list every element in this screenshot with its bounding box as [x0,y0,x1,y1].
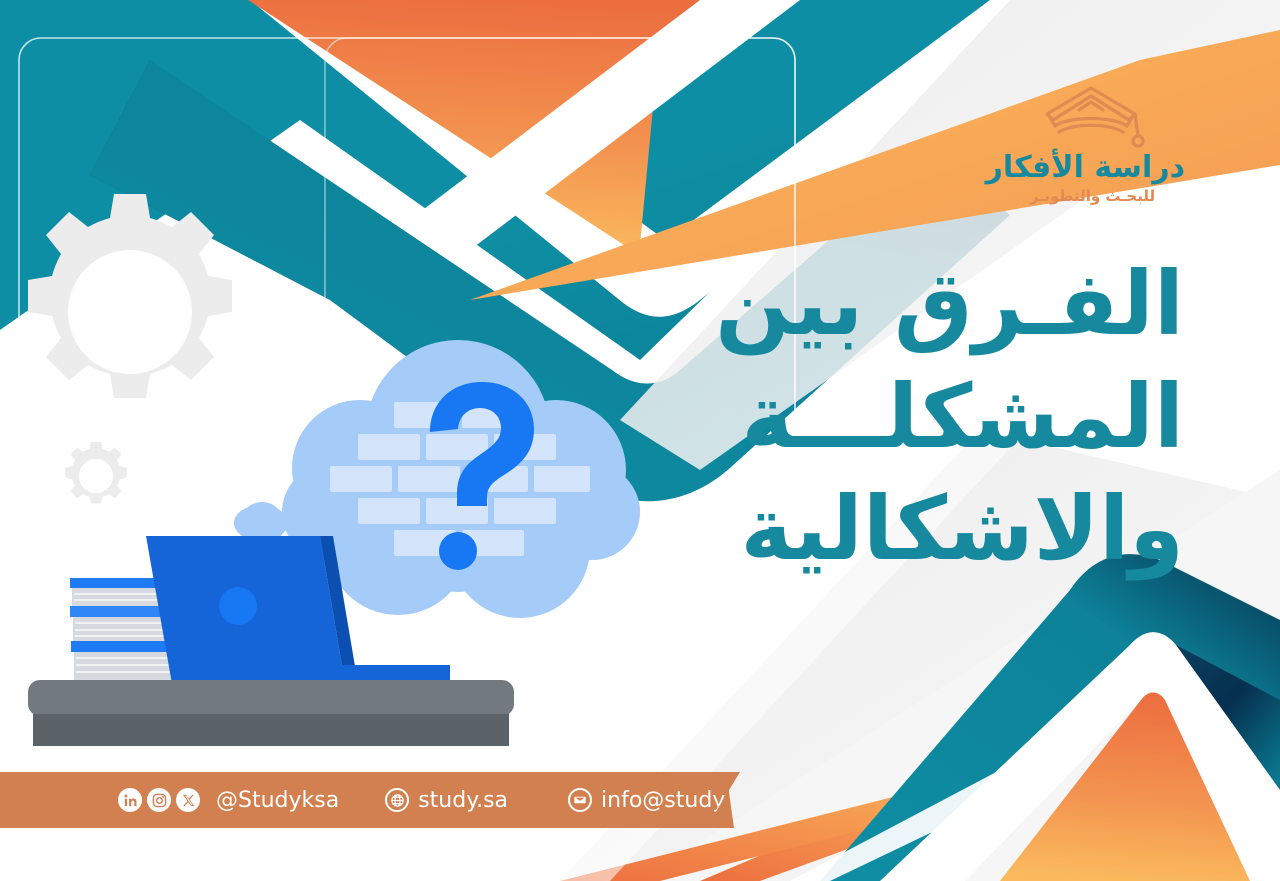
logo-tagline: للبحـث والتطويـر [1000,187,1185,205]
brand-logo: دراسة الأفكار للبحـث والتطويـر [1000,82,1185,205]
instagram-icon[interactable] [147,788,171,812]
linkedin-icon[interactable] [118,788,142,812]
graduation-cap-icon [1033,82,1153,148]
title-line-3: والاشكالية [624,473,1184,586]
poster-canvas: دراسة الأفكار للبحـث والتطويـر الفـرق بي… [0,0,1280,881]
envelope-icon [568,788,592,812]
title-line-2: المشكلـــة [624,361,1184,474]
social-handle[interactable]: @Studyksa [216,788,339,813]
logo-name: دراسة الأفكار [1000,152,1185,184]
globe-icon [385,788,409,812]
page-title: الفـرق بين المشكلـــة والاشكالية [624,248,1184,586]
footer-contact-bar: @Studyksa study.sa info@s [0,772,740,828]
x-twitter-icon[interactable] [176,788,200,812]
desk-icon [28,680,514,746]
website-contact[interactable]: study.sa [385,788,508,813]
title-line-1: الفـرق بين [624,248,1184,361]
social-icon-group: @Studyksa [118,788,339,813]
website-url[interactable]: study.sa [418,788,508,813]
